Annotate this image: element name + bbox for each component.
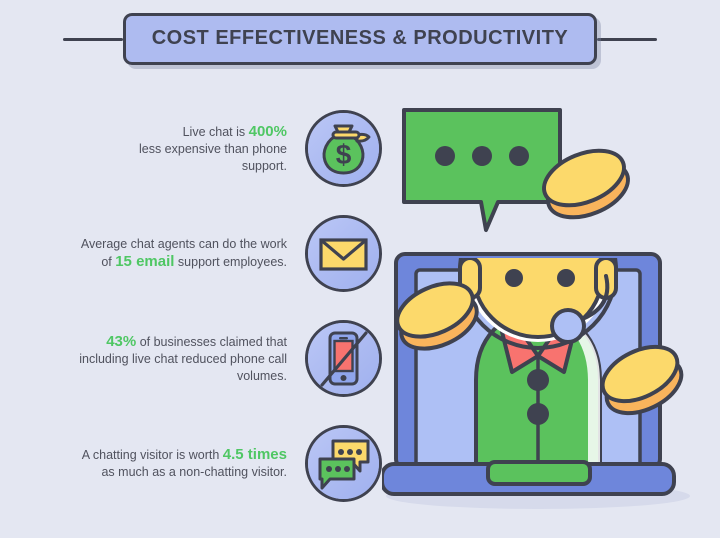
fact-copy: including live chat reduced phone call: [79, 352, 287, 366]
facts-list: Live chat is 400%less expensive than pho…: [0, 96, 382, 516]
support-agent-illustration: [382, 80, 720, 538]
bubble-dot: [509, 146, 529, 166]
envelope-icon[interactable]: [305, 215, 382, 292]
fact-text: Live chat is 400%less expensive than pho…: [67, 123, 305, 175]
fact-row: 43% of businesses claimed thatincluding …: [0, 306, 382, 411]
fact-stat: 15 email: [115, 253, 174, 270]
infographic-root: COST EFFECTIVENESS & PRODUCTIVITY Live c…: [0, 0, 720, 538]
fact-copy: Average chat agents can do the work: [81, 237, 287, 251]
laptop-trackpad: [488, 462, 590, 484]
fact-row: Live chat is 400%less expensive than pho…: [0, 96, 382, 201]
fact-row: Average chat agents can do the workof 15…: [0, 201, 382, 306]
no-phone-glyph: [308, 323, 379, 394]
fact-copy: support.: [242, 159, 287, 173]
chat-bubbles-glyph: [308, 428, 379, 499]
fact-stat: 43%: [106, 333, 136, 350]
fact-text: 43% of businesses claimed thatincluding …: [67, 333, 305, 385]
shirt-button: [527, 369, 549, 391]
fact-stat: 4.5 times: [223, 446, 287, 463]
speech-bubble: [404, 110, 560, 230]
shirt-button: [527, 403, 549, 425]
fact-copy: volumes.: [237, 369, 287, 383]
fact-copy: less expensive than phone: [139, 142, 287, 156]
fact-copy: support employees.: [174, 255, 287, 269]
fact-copy: of businesses claimed that: [136, 335, 287, 349]
chat-bubbles-icon[interactable]: [305, 425, 382, 502]
fact-copy: as much as a non-chatting visitor.: [101, 465, 287, 479]
bubble-dot: [472, 146, 492, 166]
title-banner: COST EFFECTIVENESS & PRODUCTIVITY: [123, 13, 598, 65]
money-bag-icon[interactable]: $: [305, 110, 382, 187]
microphone: [552, 310, 584, 342]
fact-stat: 400%: [249, 123, 287, 140]
fact-text: Average chat agents can do the workof 15…: [67, 236, 305, 271]
title-rule-left: [63, 38, 123, 41]
fact-text: A chatting visitor is worth 4.5 timesas …: [67, 446, 305, 481]
title-row: COST EFFECTIVENESS & PRODUCTIVITY: [0, 8, 720, 70]
eye-left: [505, 269, 523, 287]
envelope-glyph: [308, 218, 379, 289]
fact-copy: of: [101, 255, 115, 269]
eye-right: [557, 269, 575, 287]
no-phone-icon[interactable]: [305, 320, 382, 397]
title-rule-right: [597, 38, 657, 41]
bubble-dot: [435, 146, 455, 166]
page-title: COST EFFECTIVENESS & PRODUCTIVITY: [152, 27, 569, 50]
agent-scene-svg: [382, 80, 720, 538]
fact-copy: Live chat is: [183, 125, 249, 139]
fact-copy: A chatting visitor is worth: [82, 448, 223, 462]
svg-text:$: $: [336, 139, 352, 170]
money-bag-glyph: $: [308, 113, 379, 184]
fact-row: A chatting visitor is worth 4.5 timesas …: [0, 411, 382, 516]
laptop-base: [382, 462, 674, 494]
